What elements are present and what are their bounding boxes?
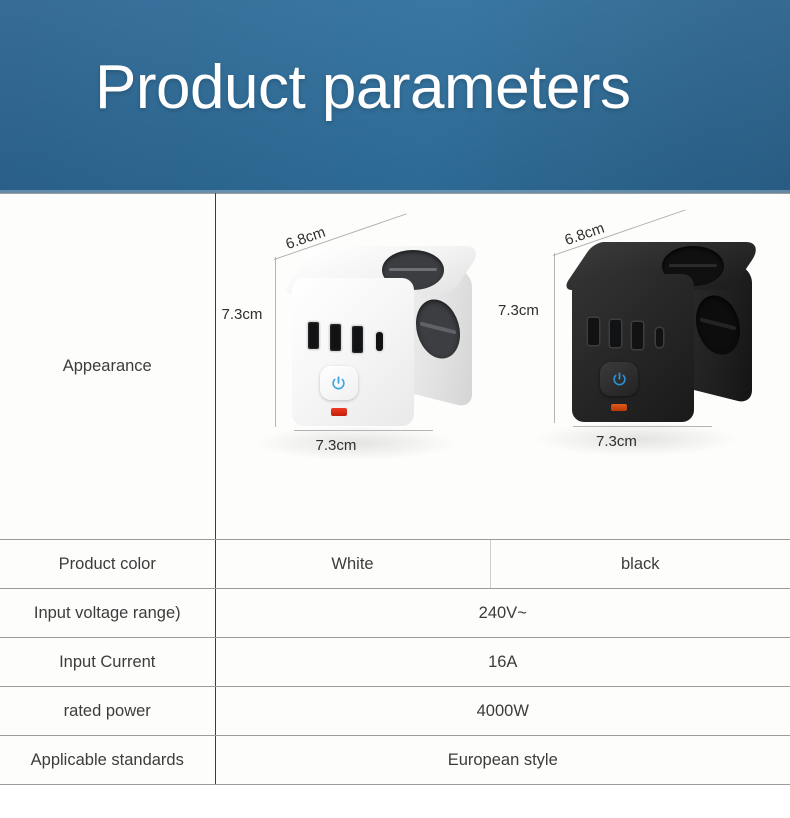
dimension-line-height-black <box>554 253 555 423</box>
row-label-rated-power: rated power <box>0 687 215 736</box>
row-value-product-color-black: black <box>490 540 790 589</box>
socket-side-white <box>416 295 460 364</box>
product-parameters-table: Appearance 6.8cm 7.3cm 7.3cm <box>0 193 790 785</box>
socket-top-bar-white <box>389 268 437 271</box>
usb-a-port-icon <box>352 326 363 353</box>
table-row-appearance: Appearance 6.8cm 7.3cm 7.3cm <box>0 194 790 540</box>
dimension-label-bottom-black: 7.3cm <box>596 433 637 450</box>
row-label-input-current: Input Current <box>0 638 215 687</box>
socket-side-bar-white <box>420 322 456 335</box>
dimension-label-height-white: 7.3cm <box>222 306 263 323</box>
power-button-white[interactable] <box>320 366 358 400</box>
usb-a-port-icon <box>588 318 599 345</box>
product-image-white <box>286 246 476 432</box>
usb-c-port-icon <box>656 328 663 347</box>
power-icon <box>611 371 628 388</box>
socket-top-bar-black <box>669 264 717 267</box>
usb-c-port-icon <box>376 332 383 351</box>
cube-front-face-black <box>572 274 694 422</box>
row-value-product-color-white: White <box>215 540 490 589</box>
power-icon <box>330 375 347 392</box>
row-label-appearance: Appearance <box>0 194 215 540</box>
table-row-rated-power: rated power 4000W <box>0 687 790 736</box>
row-value-input-voltage: 240V~ <box>215 589 790 638</box>
dimension-line-height-white <box>275 257 276 427</box>
row-value-rated-power: 4000W <box>215 687 790 736</box>
product-image-black <box>566 242 756 428</box>
page-header-banner: Product parameters <box>0 0 790 193</box>
cube-front-face-white <box>292 278 414 426</box>
row-label-applicable-standards: Applicable standards <box>0 736 215 785</box>
appearance-figure-black-cell: 6.8cm 7.3cm 7.3cm <box>490 194 790 540</box>
usb-a-port-icon <box>308 322 319 349</box>
dimension-label-bottom-white: 7.3cm <box>316 437 357 454</box>
table-row-product-color: Product color White black <box>0 540 790 589</box>
row-label-product-color: Product color <box>0 540 215 589</box>
appearance-figure-white-cell: 6.8cm 7.3cm 7.3cm <box>215 194 490 540</box>
table-row-input-current: Input Current 16A <box>0 638 790 687</box>
page-title: Product parameters <box>95 53 630 122</box>
row-value-input-current: 16A <box>215 638 790 687</box>
power-button-black[interactable] <box>600 362 638 396</box>
led-indicator-black <box>611 404 627 411</box>
socket-side-black <box>696 291 740 360</box>
usb-a-port-icon <box>330 324 341 351</box>
usb-a-port-icon <box>610 320 621 347</box>
table-row-applicable-standards: Applicable standards European style <box>0 736 790 785</box>
led-indicator-white <box>331 408 347 416</box>
dimension-label-height-black: 7.3cm <box>498 302 539 319</box>
row-label-input-voltage: Input voltage range) <box>0 589 215 638</box>
usb-a-port-icon <box>632 322 643 349</box>
table-row-input-voltage: Input voltage range) 240V~ <box>0 589 790 638</box>
row-value-applicable-standards: European style <box>215 736 790 785</box>
socket-side-bar-black <box>700 318 736 331</box>
